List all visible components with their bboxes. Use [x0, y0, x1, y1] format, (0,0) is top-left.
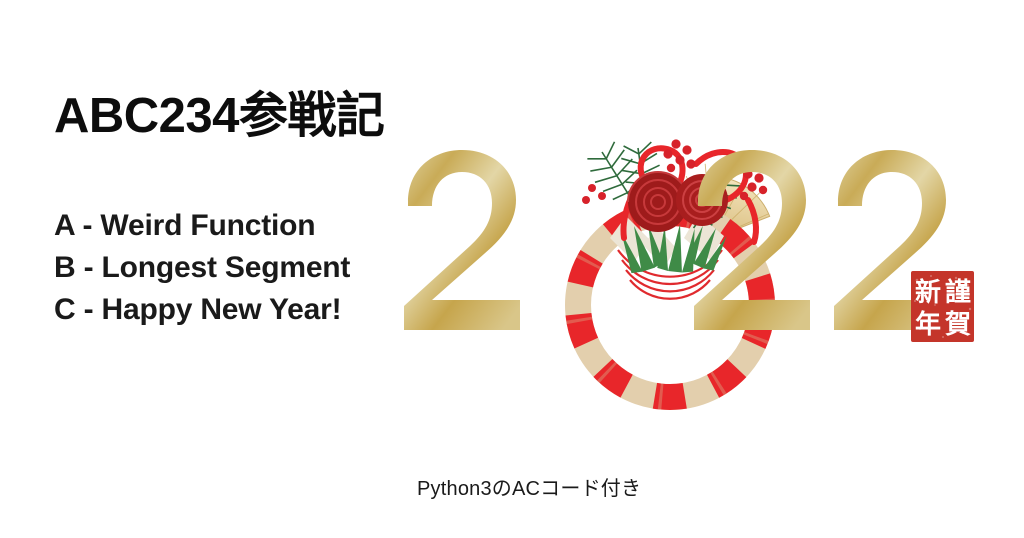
page-title: ABC234参戦記	[54, 91, 384, 142]
new-year-2022-artwork	[400, 120, 1000, 380]
slide-canvas: ABC234参戦記 A - Weird Function B - Longest…	[0, 0, 1024, 538]
kinga-shinnen-seal: 謹 賀 新 年	[911, 271, 974, 342]
list-item: C - Happy New Year!	[54, 289, 350, 331]
seal-char-top-right: 謹	[945, 277, 971, 308]
list-item: A - Weird Function	[54, 205, 350, 247]
year-digit-2-first	[400, 148, 540, 338]
seal-char-bottom-left: 年	[915, 309, 941, 340]
problem-list: A - Weird Function B - Longest Segment C…	[54, 205, 350, 331]
new-year-wreath	[552, 139, 788, 423]
seal-char-bottom-right: 賀	[944, 310, 971, 340]
seal-char-top-left: 新	[915, 277, 941, 308]
caption-text: Python3のACコード付き	[417, 472, 641, 501]
list-item: B - Longest Segment	[54, 247, 350, 289]
